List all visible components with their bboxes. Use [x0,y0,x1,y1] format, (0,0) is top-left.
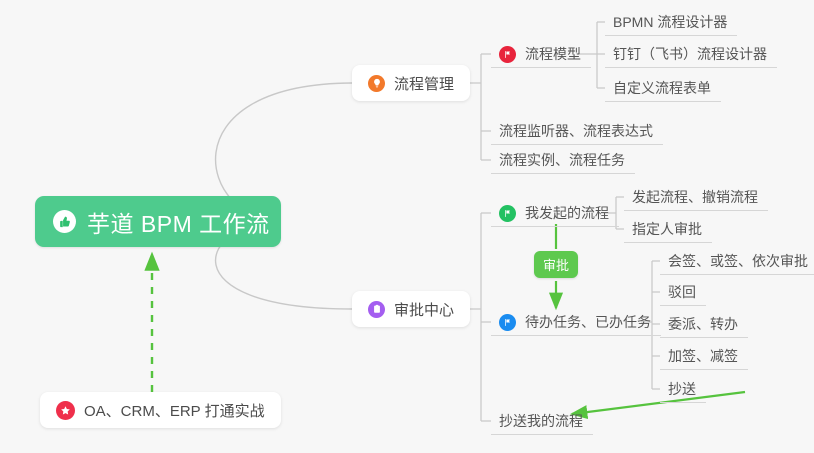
root-label: 芋道 BPM 工作流 [87,205,270,239]
root-node[interactable]: 芋道 BPM 工作流 [35,196,281,247]
node-add-remove-sign[interactable]: 加签、减签 [660,343,748,370]
flag-icon [499,205,516,222]
clipboard-icon [368,301,385,318]
node-delegate-transfer[interactable]: 委派、转办 [660,311,748,338]
node-label: 发起流程、撤销流程 [632,187,758,207]
node-reject[interactable]: 驳回 [660,279,706,306]
flag-icon [499,46,516,63]
node-label: 我发起的流程 [525,203,609,223]
flag-icon [499,314,516,331]
branch-label: 审批中心 [394,299,454,320]
branch-label: 流程管理 [394,73,454,94]
mindmap-canvas: 芋道 BPM 工作流 流程管理 流程模型 BPMN 流程设计器 钉钉（飞书）流程… [0,0,814,453]
approve-badge-label: 审批 [543,258,569,273]
node-label: 待办任务、已办任务 [525,312,651,332]
node-label: 指定人审批 [632,219,702,239]
node-label: 流程模型 [525,44,581,64]
node-assignee-approval[interactable]: 指定人审批 [624,216,712,243]
node-label: 委派、转办 [668,314,738,334]
integration-card[interactable]: OA、CRM、ERP 打通实战 [40,392,281,428]
node-label: 加签、减签 [668,346,738,366]
node-dingtalk-designer[interactable]: 钉钉（飞书）流程设计器 [605,41,777,68]
branch-approval-center[interactable]: 审批中心 [352,291,470,327]
lightbulb-icon [368,75,385,92]
node-cc[interactable]: 抄送 [660,376,706,403]
node-label: 抄送我的流程 [499,411,583,431]
node-label: 自定义流程表单 [613,78,711,98]
node-label: 会签、或签、依次审批 [668,251,808,271]
node-label: 流程监听器、流程表达式 [499,121,653,141]
node-process-instance[interactable]: 流程实例、流程任务 [491,147,635,174]
node-my-started-process[interactable]: 我发起的流程 [491,200,619,227]
branch-process-management[interactable]: 流程管理 [352,65,470,101]
node-label: 驳回 [668,282,696,302]
node-label: 流程实例、流程任务 [499,150,625,170]
node-process-model[interactable]: 流程模型 [491,41,591,68]
star-icon [56,401,75,420]
node-start-cancel-process[interactable]: 发起流程、撤销流程 [624,184,768,211]
node-process-listener[interactable]: 流程监听器、流程表达式 [491,118,663,145]
node-label: 钉钉（飞书）流程设计器 [613,44,767,64]
node-todo-done-tasks[interactable]: 待办任务、已办任务 [491,309,661,336]
node-label: BPMN 流程设计器 [613,12,727,32]
thumbs-up-icon [53,210,76,233]
integration-card-label: OA、CRM、ERP 打通实战 [84,400,265,421]
node-label: 抄送 [668,379,696,399]
node-custom-form[interactable]: 自定义流程表单 [605,75,721,102]
node-cc-my-process[interactable]: 抄送我的流程 [491,408,593,435]
node-bpmn-designer[interactable]: BPMN 流程设计器 [605,9,737,36]
approve-badge: 审批 [534,251,578,278]
node-countersign[interactable]: 会签、或签、依次审批 [660,248,814,275]
